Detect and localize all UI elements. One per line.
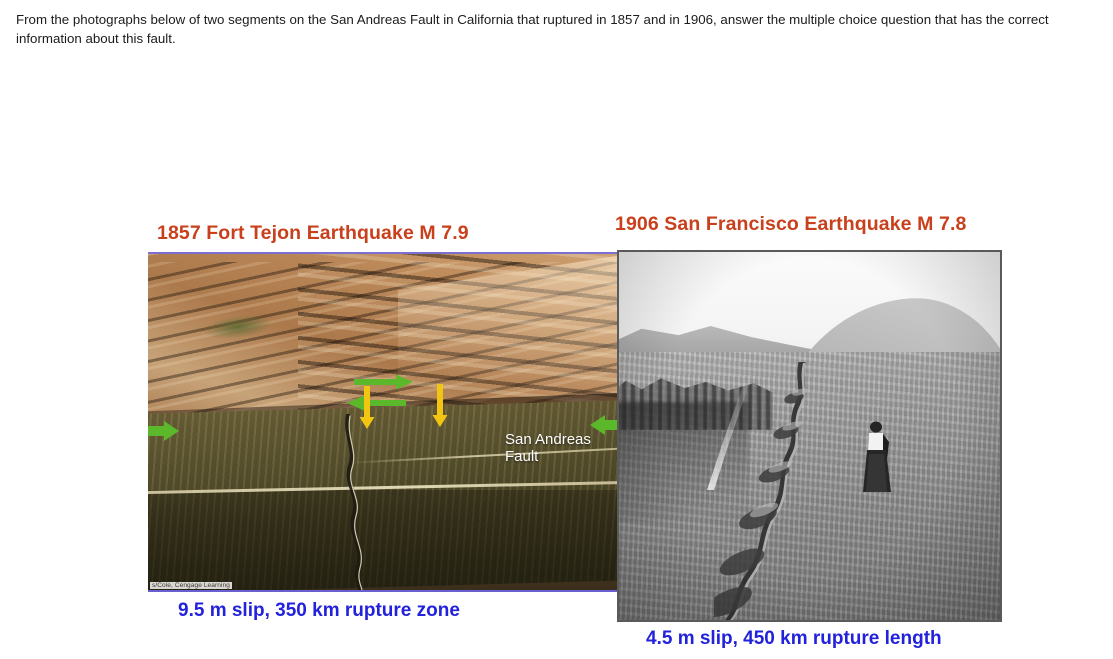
panel-heading-1906: 1906 San Francisco Earthquake M 7.8 — [615, 213, 966, 236]
fault-comparison-figure: 1857 Fort Tejon Earthquake M 7.9 — [0, 0, 1113, 659]
photo-1857-fort-tejon: San Andreas Fault s/Cole, Cengage Learni… — [148, 252, 618, 592]
green-arrow-lower-icon — [344, 395, 406, 411]
panel-caption-1857: 9.5 m slip, 350 km rupture zone — [178, 600, 460, 622]
panel-caption-1906: 4.5 m slip, 450 km rupture length — [646, 628, 942, 650]
panel-heading-1857: 1857 Fort Tejon Earthquake M 7.9 — [157, 222, 469, 245]
photo-attribution: s/Cole, Cengage Learning — [150, 582, 232, 589]
bw-vignette — [619, 252, 1000, 620]
aerial-creek-channel — [298, 414, 418, 592]
green-arrow-right-edge-icon — [589, 414, 618, 436]
san-andreas-fault-label: San Andreas Fault — [505, 431, 591, 465]
yellow-arrow-right-icon — [432, 384, 448, 428]
photo-1906-san-francisco — [617, 250, 1002, 622]
yellow-arrow-left-icon — [359, 386, 375, 430]
green-arrow-left-edge-icon — [148, 420, 180, 442]
